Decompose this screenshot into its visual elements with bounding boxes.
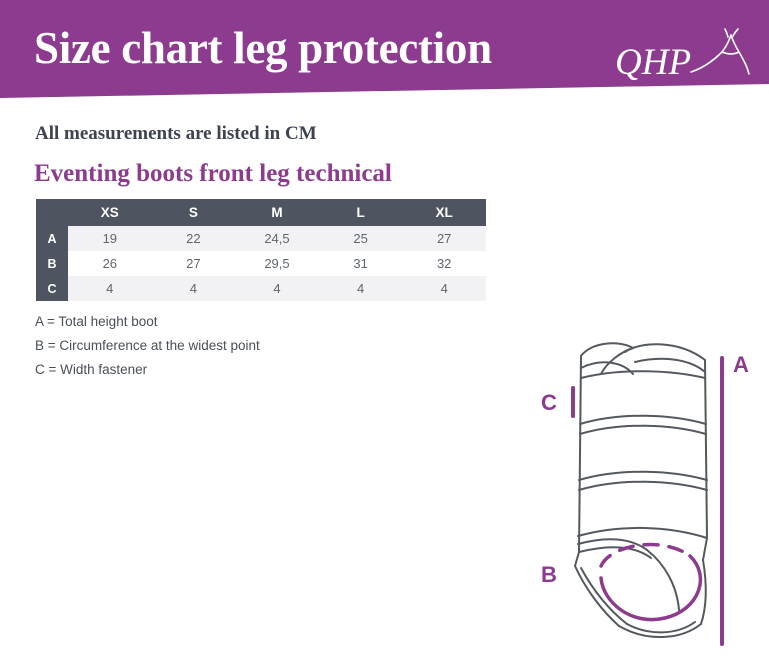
- cell-b-l: 31: [319, 251, 403, 276]
- size-chart-table: XS S M L XL A 19 22 24,5 25 27 B 26 27 2…: [36, 199, 486, 301]
- row-label-a: A: [36, 226, 68, 251]
- cell-c-xs: 4: [68, 276, 152, 301]
- page-title: Size chart leg protection: [34, 22, 492, 74]
- marker-b-ellipse-solid: [601, 556, 700, 620]
- cell-a-xs: 19: [68, 226, 152, 251]
- svg-text:QHP: QHP: [615, 42, 691, 83]
- boot-outline: [575, 343, 707, 637]
- table-body: A 19 22 24,5 25 27 B 26 27 29,5 31 32 C …: [36, 226, 486, 301]
- cell-b-s: 27: [152, 251, 236, 276]
- marker-c-label: C: [541, 390, 557, 415]
- marker-a-label: A: [733, 352, 749, 377]
- marker-b-label: B: [541, 562, 557, 587]
- cell-c-l: 4: [319, 276, 403, 301]
- table-corner-cell: [36, 199, 68, 226]
- row-label-c: C: [36, 276, 68, 301]
- row-label-b: B: [36, 251, 68, 276]
- qhp-horse-logo: QHP: [615, 28, 755, 90]
- table-row: B 26 27 29,5 31 32: [36, 251, 486, 276]
- cell-c-xl: 4: [402, 276, 486, 301]
- table-row: C 4 4 4 4 4: [36, 276, 486, 301]
- front-leg-boot-illustration: A C B: [515, 338, 769, 658]
- legend-list: A = Total height boot B = Circumference …: [35, 310, 365, 382]
- legend-item-b: B = Circumference at the widest point: [35, 334, 365, 358]
- cell-c-m: 4: [235, 276, 319, 301]
- cell-c-s: 4: [152, 276, 236, 301]
- table-header: XS S M L XL: [36, 199, 486, 226]
- column-header-xl: XL: [402, 199, 486, 226]
- section-heading: Eventing boots front leg technical: [34, 160, 392, 188]
- cell-a-l: 25: [319, 226, 403, 251]
- cell-a-s: 22: [152, 226, 236, 251]
- legend-item-c: C = Width fastener: [35, 358, 365, 382]
- cell-b-xl: 32: [402, 251, 486, 276]
- column-header-m: M: [235, 199, 319, 226]
- column-header-xs: XS: [68, 199, 152, 226]
- table-header-row: XS S M L XL: [36, 199, 486, 226]
- cell-b-xs: 26: [68, 251, 152, 276]
- measurements-note: All measurements are listed in CM: [35, 123, 317, 145]
- cell-a-m: 24,5: [235, 226, 319, 251]
- legend-item-a: A = Total height boot: [35, 310, 365, 334]
- cell-b-m: 29,5: [235, 251, 319, 276]
- table-row: A 19 22 24,5 25 27: [36, 226, 486, 251]
- cell-a-xl: 27: [402, 226, 486, 251]
- column-header-l: L: [319, 199, 403, 226]
- column-header-s: S: [152, 199, 236, 226]
